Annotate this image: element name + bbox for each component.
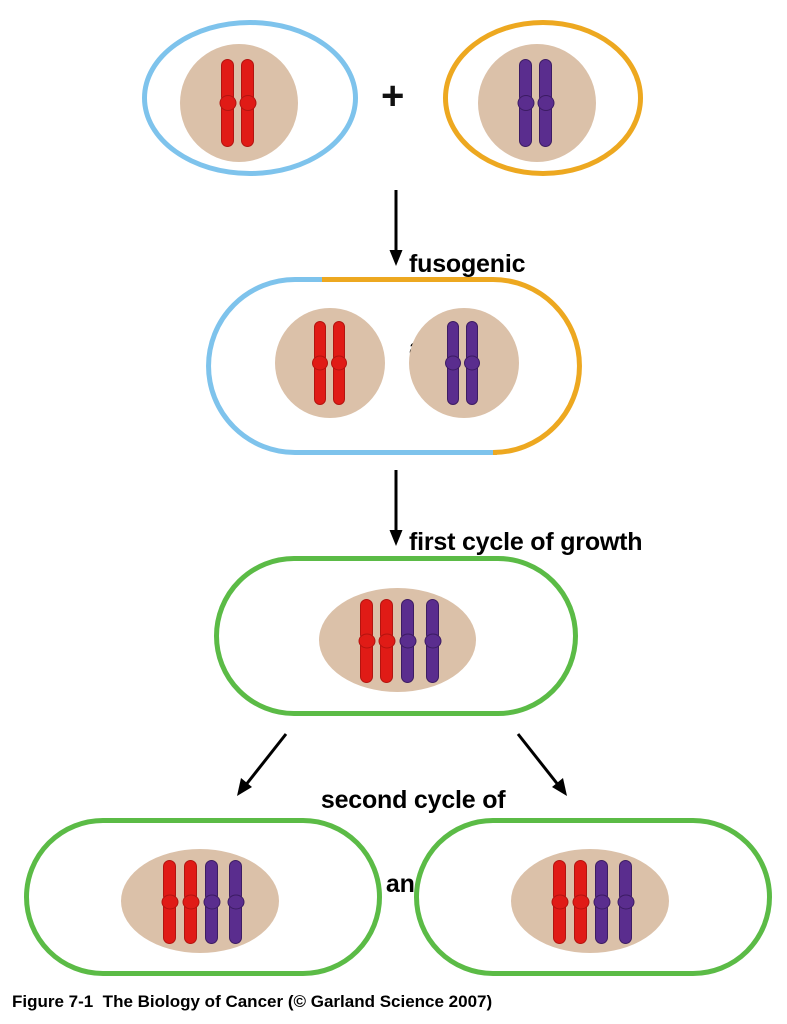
chromosome-purple [619,860,632,944]
figure-caption: Figure 7-1 The Biology of Cancer (© Garl… [12,992,492,1012]
nucleus [511,849,669,953]
chromosome-red [333,321,345,405]
nucleus [319,588,476,692]
chromosome-red [241,59,254,147]
chromosome-red [574,860,587,944]
chromosome-purple [466,321,478,405]
plus-operator: + [381,76,404,116]
chromosome-purple [519,59,532,147]
chromosome-red [380,599,393,683]
chromosome-purple [447,321,459,405]
heterokaryon-membrane [206,277,582,455]
annotation-fusogenic-line1: fusogenic [409,250,525,278]
chromosome-purple [595,860,608,944]
daughter-cell-left [24,818,382,976]
heterokaryon-cell [206,277,582,455]
nucleus [121,849,279,953]
chromosome-purple [426,599,439,683]
arrow-second-cycle-left [232,730,292,800]
parent-cell-left [142,20,358,176]
chromosome-red [163,860,176,944]
chromosome-purple [229,860,242,944]
chromosome-red [221,59,234,147]
annotation-second-cycle-line1: second cycle of [297,786,529,814]
chromosome-red [360,599,373,683]
parent-cell-right [443,20,643,176]
chromosome-red [314,321,326,405]
chromosome-red [184,860,197,944]
figure-canvas: + fusogenic agent [0,0,787,1024]
chromosome-purple [401,599,414,683]
annotation-first-cycle-line1: first cycle of growth [409,528,642,556]
chromosome-purple [539,59,552,147]
synkaryon-cell [214,556,578,716]
chromosome-purple [205,860,218,944]
daughter-cell-right [414,818,772,976]
chromosome-red [553,860,566,944]
nucleus [275,308,385,418]
